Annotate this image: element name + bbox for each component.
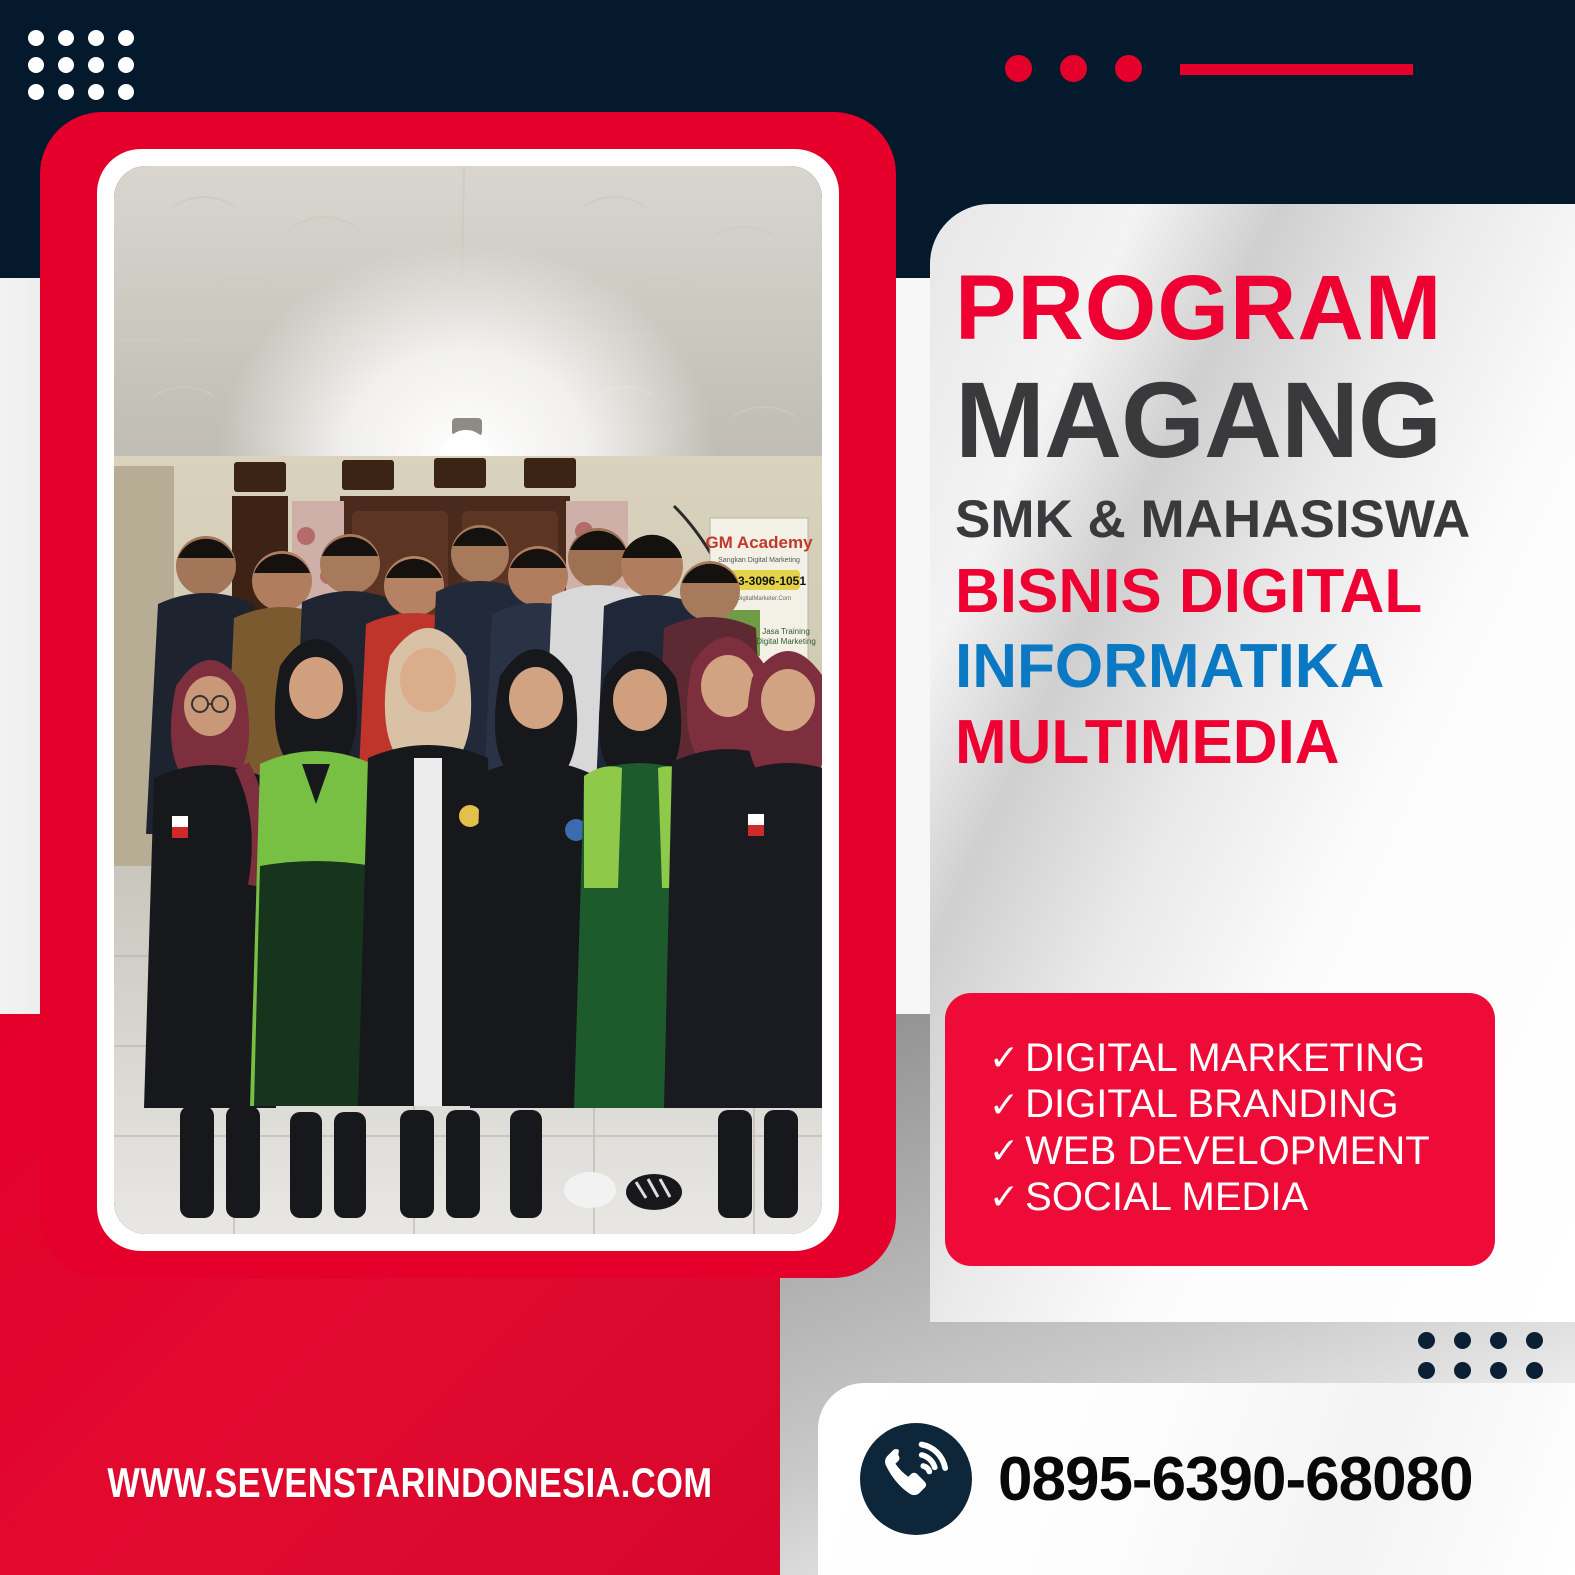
svg-text:Jasa Training: Jasa Training xyxy=(762,627,810,636)
photo-white-border: GM Academy Sangkan Digital Marketing 081… xyxy=(97,149,839,1251)
service-label: SOCIAL MEDIA xyxy=(1025,1174,1308,1220)
headline-magang: MAGANG xyxy=(955,354,1555,486)
service-item: ✓ DIGITAL BRANDING xyxy=(989,1081,1495,1127)
headline-informatika: INFORMATIKA xyxy=(955,629,1555,705)
service-item: ✓ DIGITAL MARKETING xyxy=(989,1035,1495,1081)
svg-text:GM Academy: GM Academy xyxy=(705,533,813,552)
check-icon: ✓ xyxy=(989,1037,1019,1079)
check-icon: ✓ xyxy=(989,1130,1019,1172)
website-url[interactable]: WWW.SEVENSTARINDONESIA.COM xyxy=(107,1459,712,1507)
service-label: DIGITAL MARKETING xyxy=(1025,1035,1425,1081)
contact-card: 0895-6390-68080 xyxy=(818,1383,1575,1575)
service-item: ✓ SOCIAL MEDIA xyxy=(989,1174,1495,1220)
headline-program: PROGRAM xyxy=(955,262,1555,354)
service-label: WEB DEVELOPMENT xyxy=(1025,1128,1430,1174)
headline-multimedia: MULTIMEDIA xyxy=(955,705,1555,781)
headline-block: PROGRAM MAGANG SMK & MAHASISWA BISNIS DI… xyxy=(955,262,1555,780)
svg-text:Sangkan Digital Marketing: Sangkan Digital Marketing xyxy=(718,557,800,564)
phone-call-icon xyxy=(860,1423,972,1535)
group-photo: GM Academy Sangkan Digital Marketing 081… xyxy=(114,166,822,1234)
svg-text:Digital Marketing: Digital Marketing xyxy=(756,637,816,646)
services-list: ✓ DIGITAL MARKETING ✓ DIGITAL BRANDING ✓… xyxy=(945,993,1495,1266)
phone-number[interactable]: 0895-6390-68080 xyxy=(998,1444,1473,1515)
three-red-dots-icon xyxy=(1005,55,1142,82)
photo-frame: GM Academy Sangkan Digital Marketing 081… xyxy=(40,112,896,1278)
dot-grid-white-icon xyxy=(28,30,148,111)
website-bar: WWW.SEVENSTARINDONESIA.COM xyxy=(0,1390,820,1575)
service-item: ✓ WEB DEVELOPMENT xyxy=(989,1128,1495,1174)
headline-bisnis: BISNIS DIGITAL xyxy=(955,554,1555,630)
check-icon: ✓ xyxy=(989,1084,1019,1126)
headline-smk: SMK & MAHASISWA xyxy=(955,486,1555,554)
service-label: DIGITAL BRANDING xyxy=(1025,1081,1398,1127)
red-rule-icon xyxy=(1180,64,1413,75)
check-icon: ✓ xyxy=(989,1176,1019,1218)
